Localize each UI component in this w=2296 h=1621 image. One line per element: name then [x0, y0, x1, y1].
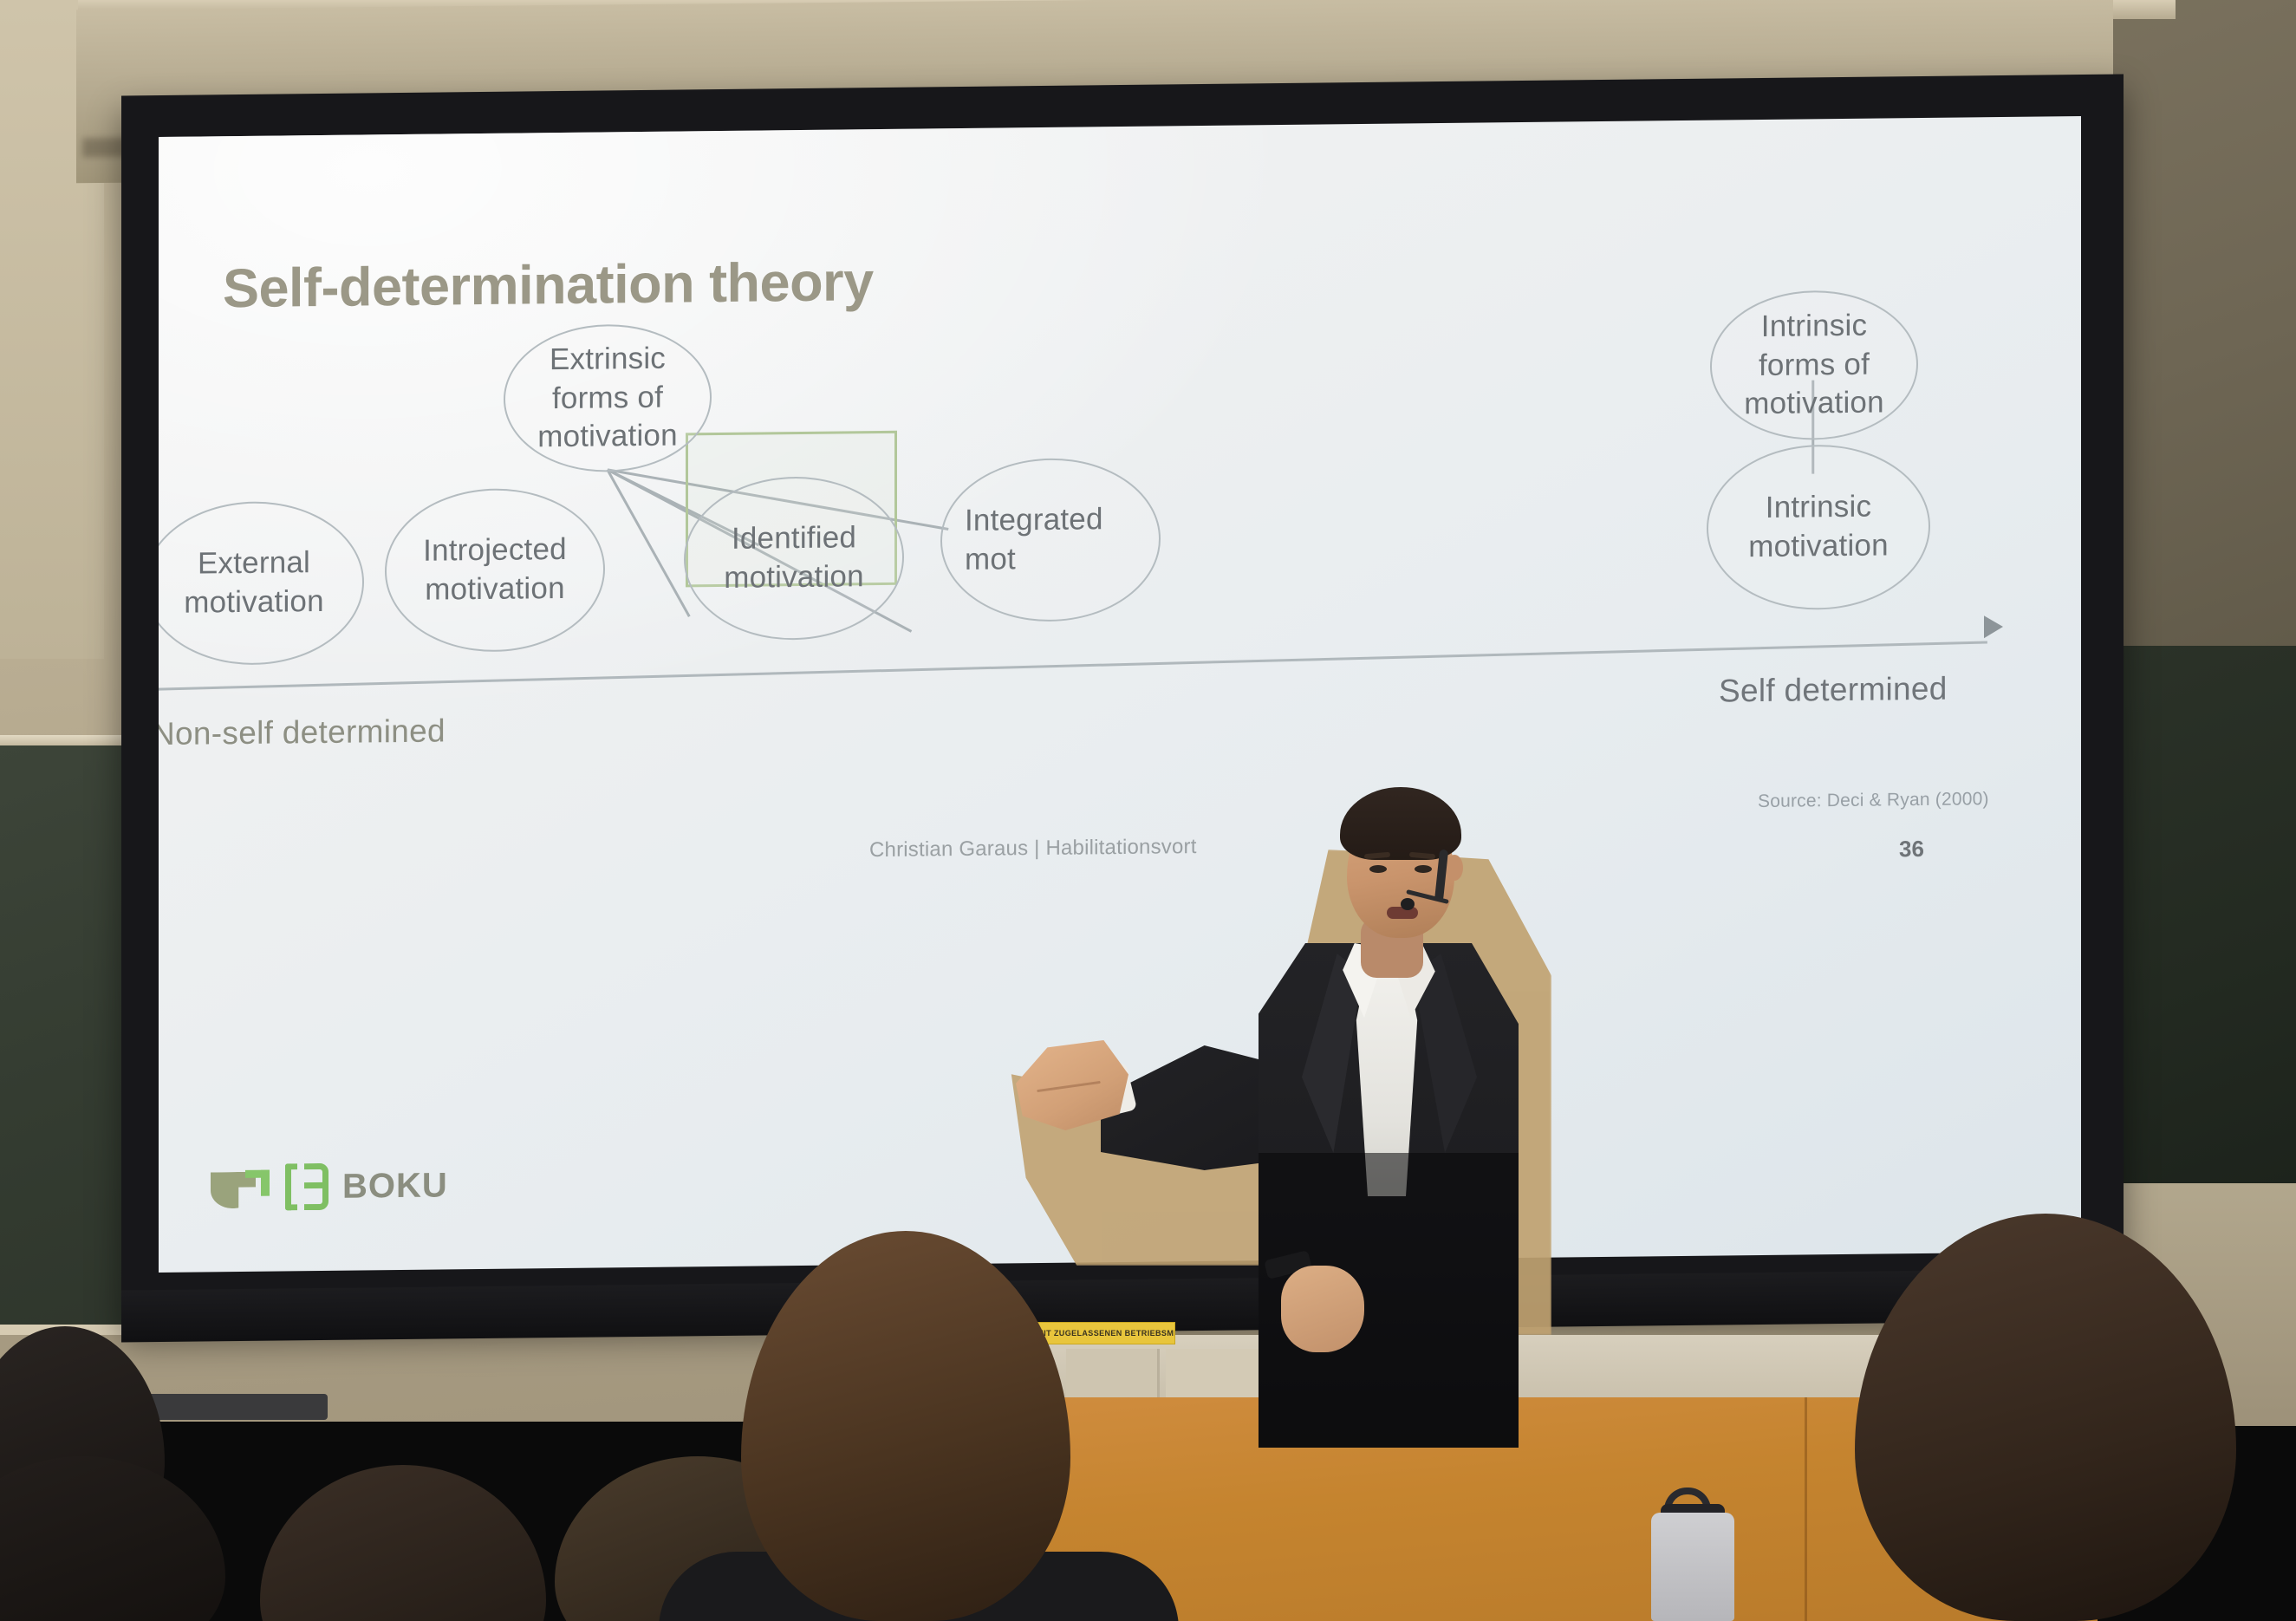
presenter-ear — [1446, 855, 1463, 881]
node-identified-motivation[interactable]: Identified motivation — [684, 476, 904, 641]
axis-label-left: Non-self determined — [159, 713, 446, 752]
source-citation: Source: Deci & Ryan (2000) — [1758, 789, 1989, 812]
node-line-2: forms of — [537, 378, 678, 419]
boku-leaf-icon — [211, 1165, 273, 1211]
audience-head — [0, 1456, 225, 1621]
headset-mic-capsule-icon — [1401, 898, 1415, 910]
water-bottle — [1651, 1513, 1734, 1621]
boku-logo: BOKU — [211, 1162, 448, 1211]
node-line-2: motivation — [724, 557, 864, 598]
slide-number: 36 — [1899, 836, 1924, 863]
presenter-eye-right — [1415, 865, 1432, 873]
node-intrinsic-forms-of-motivation[interactable]: Intrinsic forms of motivation — [1710, 290, 1918, 441]
node-line-2: forms of — [1744, 345, 1884, 386]
node-integrated-motivation[interactable]: Integrated mot — [940, 457, 1161, 622]
continuum-axis — [159, 641, 1987, 690]
audience-head — [260, 1465, 546, 1621]
node-line-1: Intrinsic — [1744, 306, 1884, 347]
axis-label-right: Self determined — [1719, 671, 1948, 710]
node-external-motivation[interactable]: External motivation — [159, 500, 364, 666]
axis-arrow-icon — [1984, 615, 2003, 638]
boku-logo-text: BOKU — [342, 1166, 448, 1206]
slide-title: Self-determination theory — [223, 251, 874, 320]
node-line-2: mot — [965, 539, 1103, 580]
presenter-eye-left — [1369, 865, 1387, 873]
node-line-2: motivation — [184, 583, 324, 623]
node-line-1: Extrinsic — [537, 339, 678, 380]
node-line-2: motivation — [1748, 526, 1889, 567]
presenter — [979, 780, 1603, 1448]
node-introjected-motivation[interactable]: Introjected motivation — [385, 487, 605, 653]
node-line-3: motivation — [1744, 384, 1884, 425]
node-intrinsic-motivation[interactable]: Intrinsic motivation — [1707, 444, 1930, 611]
chalkboard-right — [2108, 646, 2296, 1183]
node-line-1: Introjected — [423, 531, 567, 571]
podium-seam — [1805, 1397, 1807, 1621]
node-line-2: motivation — [423, 570, 567, 610]
node-extrinsic-forms-of-motivation[interactable]: Extrinsic forms of motivation — [504, 323, 712, 473]
node-line-3: motivation — [537, 417, 678, 458]
lecture-hall-scene: Self-determination theory Extrinsic form… — [0, 0, 2296, 1621]
presenter-right-hand — [1281, 1266, 1364, 1352]
node-line-1: Integrated — [965, 500, 1103, 541]
node-line-1: Identified — [724, 518, 864, 559]
node-line-1: Intrinsic — [1748, 488, 1889, 529]
boku-bracket-icon — [285, 1163, 330, 1211]
node-line-1: External — [184, 544, 324, 584]
